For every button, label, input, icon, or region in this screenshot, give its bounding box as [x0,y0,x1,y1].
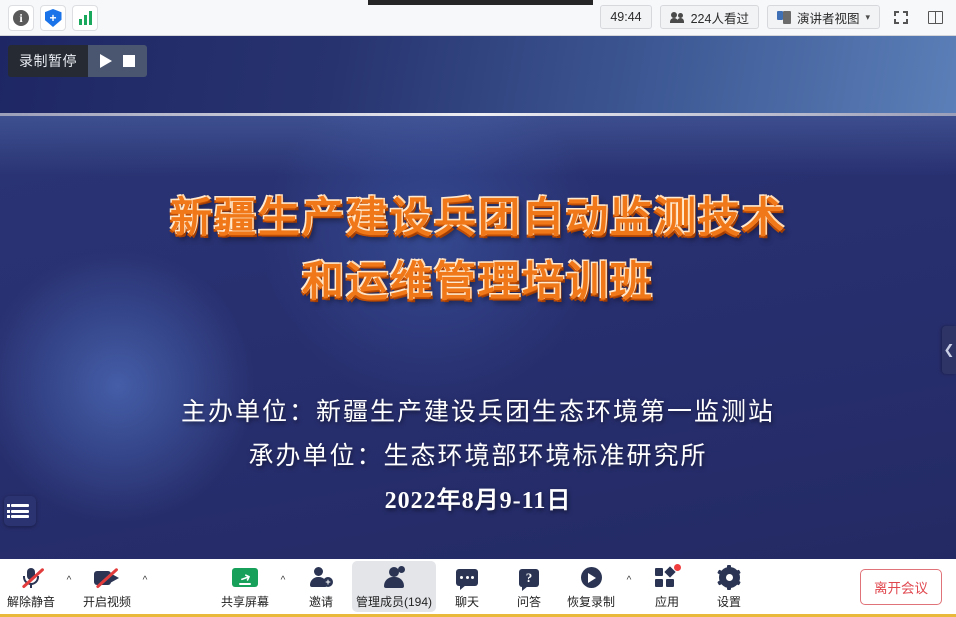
slide-subtitle-line2: 承办单位：生态环境部环境标准研究所 [0,435,956,479]
meeting-window: i + 49:44 224人看过 演讲者 [0,0,956,617]
info-icon-button[interactable]: i [8,5,34,31]
toolbar-label-share-screen: 共享屏幕 [221,593,269,610]
toolbar-label-start-video: 开启视频 [83,593,131,610]
viewer-count-label: 224人看过 [691,8,749,27]
toolbar-item-invite[interactable]: + 邀请 [290,561,352,612]
slide-title-line1: 新疆生产建设兵团自动监测技术 [0,186,956,250]
chevron-left-icon: ❮ [944,342,955,358]
view-mode-dropdown[interactable]: 演讲者视图 ▾ [767,5,880,29]
audio-options-caret[interactable]: ^ [62,575,76,586]
recording-buttons [88,45,147,77]
invite-user-icon: + [308,566,334,590]
recording-controls: 录制暂停 [8,45,147,77]
microphone-muted-icon [18,566,44,590]
toolbar-item-settings[interactable]: 设置 [698,561,760,612]
stop-icon[interactable] [123,55,135,67]
toolbar-label-apps: 应用 [655,593,679,610]
chat-icon [454,566,480,590]
meeting-timer: 49:44 [600,5,651,29]
toolbar-item-chat[interactable]: 聊天 [436,561,498,612]
share-options-caret[interactable]: ^ [276,575,290,586]
participants-icon [381,566,407,590]
info-icon: i [13,10,29,26]
camera-off-icon [94,566,120,590]
video-group: 开启视频 ^ [76,561,152,612]
signal-bars-icon [79,11,92,25]
signal-bars-icon-button[interactable] [72,5,98,31]
meeting-timer-label: 49:44 [610,10,641,24]
shared-screen-stage: 录制暂停 新疆生产建设兵团自动监测技术 和运维管理培训班 主办单位：新疆生产建设… [0,36,956,559]
audio-group: 解除静音 ^ [0,561,76,612]
toolbar-item-resume-recording[interactable]: 恢复录制 [560,561,622,612]
toolbar-item-share-screen[interactable]: ➜ 共享屏幕 [214,561,276,612]
fullscreen-icon [894,11,908,24]
slide-subtitle-line1: 主办单位：新疆生产建设兵团生态环境第一监测站 [0,391,956,435]
slide-subtitle-line3: 2022年8月9-11日 [0,479,956,523]
leave-meeting-button[interactable]: 离开会议 [860,569,942,605]
slide-list-button[interactable] [4,496,36,526]
share-group: ➜ 共享屏幕 ^ [214,561,290,612]
toolbar-label-settings: 设置 [717,593,741,610]
title-bar-strip [368,0,593,5]
toolbar-item-manage-participants[interactable]: 管理成员(194) [352,561,436,612]
shield-icon-button[interactable]: + [40,5,66,31]
chrome-left-icons: i + [8,5,98,31]
apps-icon [654,566,680,590]
toolbar-item-qa[interactable]: ? 问答 [498,561,560,612]
slide-subtitle: 主办单位：新疆生产建设兵团生态环境第一监测站 承办单位：生态环境部环境标准研究所… [0,391,956,523]
toolbar-label-resume-recording: 恢复录制 [567,593,615,610]
shield-icon: + [45,9,62,27]
chrome-right-controls: 49:44 224人看过 演讲者视图 ▾ [600,5,948,29]
toolbar-label-unmute: 解除静音 [7,593,55,610]
record-options-caret[interactable]: ^ [622,575,636,586]
chevron-down-icon: ▾ [865,12,870,23]
fullscreen-button[interactable] [888,5,914,29]
toolbar-item-start-video[interactable]: 开启视频 [76,561,138,612]
video-options-caret[interactable]: ^ [138,575,152,586]
share-screen-icon: ➜ [232,566,258,590]
gear-icon [716,566,742,590]
split-view-icon [928,11,943,24]
slide-title-line2: 和运维管理培训班 [0,250,956,314]
toolbar-label-qa: 问答 [517,593,541,610]
people-icon [670,11,685,24]
recording-status-label: 录制暂停 [8,45,88,77]
record-group: 恢复录制 ^ [560,561,636,612]
list-icon [11,502,29,521]
record-resume-icon [578,566,604,590]
meeting-toolbar: 解除静音 ^ 开启视频 ^ ➜ 共享屏幕 ^ [0,559,956,614]
slide-sheen [0,116,956,176]
toolbar-label-chat: 聊天 [455,593,479,610]
browser-chrome-bar: i + 49:44 224人看过 演讲者 [0,0,956,36]
question-answer-icon: ? [516,566,542,590]
viewer-count-button[interactable]: 224人看过 [660,5,759,29]
split-view-button[interactable] [922,5,948,29]
play-icon[interactable] [100,54,112,68]
toolbar-label-invite: 邀请 [309,593,333,610]
slide-title: 新疆生产建设兵团自动监测技术 和运维管理培训班 [0,186,956,314]
view-mode-label: 演讲者视图 [797,8,860,27]
speaker-view-icon [777,11,791,24]
toolbar-item-apps[interactable]: 应用 [636,561,698,612]
toolbar-item-unmute[interactable]: 解除静音 [0,561,62,612]
toolbar-label-manage-participants: 管理成员(194) [356,593,432,610]
collapse-panel-handle[interactable]: ❮ [942,326,956,374]
